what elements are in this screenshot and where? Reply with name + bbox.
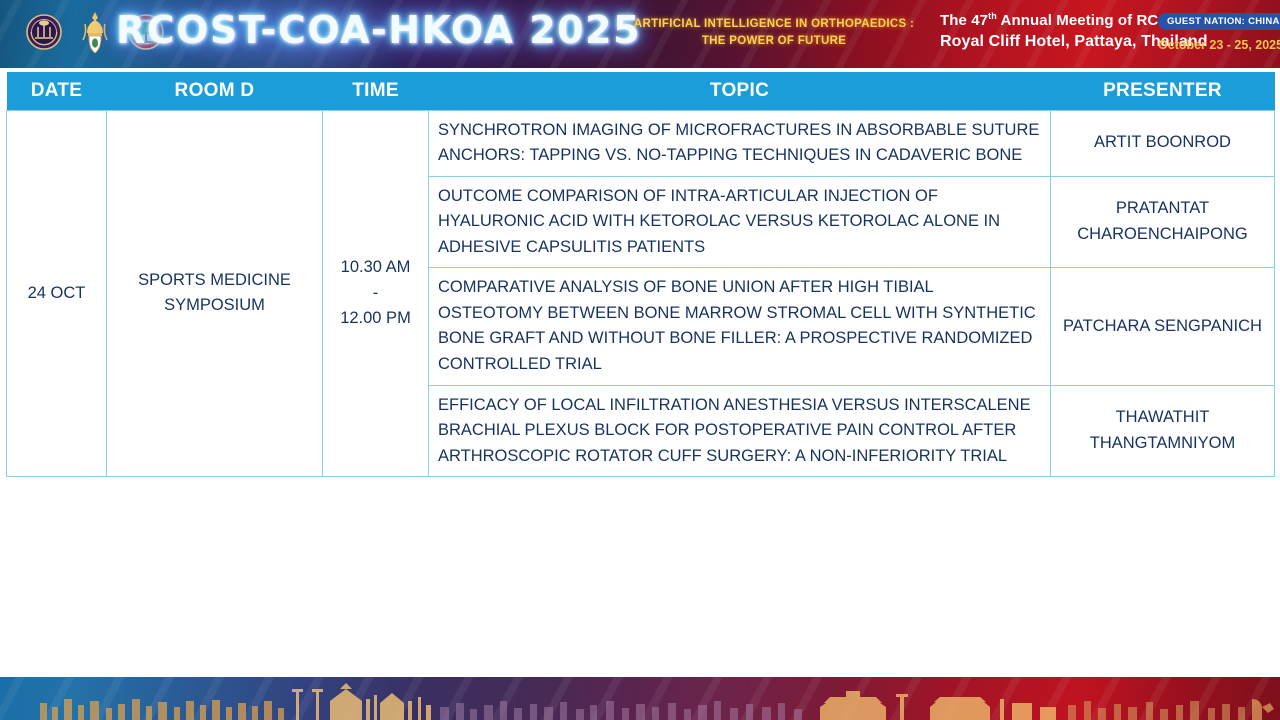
cell-room-session: SPORTS MEDICINE SYMPOSIUM	[107, 110, 323, 477]
column-header-time: TIME	[323, 72, 429, 110]
column-header-topic: TOPIC	[429, 72, 1051, 110]
column-header-presenter: PRESENTER	[1051, 72, 1275, 110]
rcost-emblem-icon	[22, 9, 66, 57]
time-start: 10.30 AM	[332, 255, 419, 281]
time-dash: -	[332, 281, 419, 307]
schedule-table: DATE ROOM D TIME TOPIC PRESENTER 24 OCT …	[6, 72, 1275, 477]
city-skyline-graphic	[0, 677, 1280, 720]
time-end: 12.00 PM	[332, 306, 419, 332]
guest-nation-badge: GUEST NATION: CHINA	[1158, 13, 1280, 30]
cell-topic: COMPARATIVE ANALYSIS OF BONE UNION AFTER…	[429, 268, 1051, 385]
cell-presenter: PATCHARA SENGPANICH	[1051, 268, 1275, 385]
event-title: RCOST-COA-HKOA 2025	[116, 8, 641, 52]
cell-topic: EFFICACY OF LOCAL INFILTRATION ANESTHESI…	[429, 385, 1051, 477]
table-header-row: DATE ROOM D TIME TOPIC PRESENTER	[7, 72, 1275, 110]
footer-banner	[0, 677, 1280, 720]
cell-topic: SYNCHROTRON IMAGING OF MICROFRACTURES IN…	[429, 110, 1051, 176]
meeting-name-prefix: The 47	[940, 12, 988, 29]
cell-topic: OUTCOME COMPARISON OF INTRA-ARTICULAR IN…	[429, 176, 1051, 268]
cell-date: 24 OCT	[7, 110, 107, 477]
cell-presenter: THAWATHIT THANGTAMNIYOM	[1051, 385, 1275, 477]
cell-time: 10.30 AM - 12.00 PM	[323, 110, 429, 477]
event-date: October 23 - 25, 2025	[1158, 38, 1280, 52]
event-tagline: ARTIFICIAL INTELLIGENCE IN ORTHOPAEDICS …	[624, 16, 924, 51]
meeting-ordinal-suffix: th	[988, 11, 997, 21]
cell-presenter: PRATANTAT CHAROENCHAIPONG	[1051, 176, 1275, 268]
event-banner: RCOST-COA-HKOA 2025 ARTIFICIAL INTELLIGE…	[0, 0, 1280, 68]
column-header-room: ROOM D	[107, 72, 323, 110]
table-row: 24 OCT SPORTS MEDICINE SYMPOSIUM 10.30 A…	[7, 110, 1275, 176]
tagline-line-1: ARTIFICIAL INTELLIGENCE IN ORTHOPAEDICS …	[624, 16, 924, 33]
schedule-table-container: DATE ROOM D TIME TOPIC PRESENTER 24 OCT …	[6, 72, 1274, 477]
cell-presenter: ARTIT BOONROD	[1051, 110, 1275, 176]
slide-page: RCOST-COA-HKOA 2025 ARTIFICIAL INTELLIGE…	[0, 0, 1280, 720]
thai-royal-emblem-icon	[73, 9, 117, 57]
tagline-line-2: THE POWER OF FUTURE	[624, 33, 924, 50]
column-header-date: DATE	[7, 72, 107, 110]
